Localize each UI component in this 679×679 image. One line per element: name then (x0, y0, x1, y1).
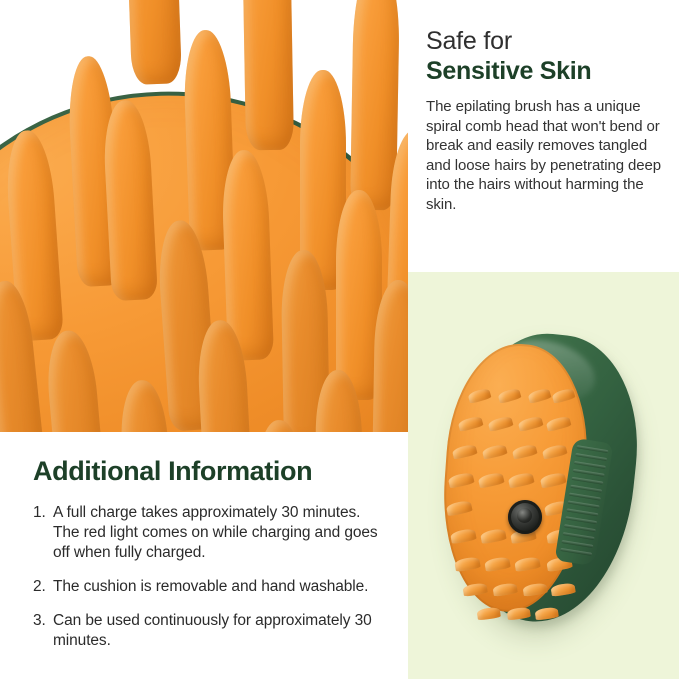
grip-rib (569, 493, 601, 501)
additional-information-list: 1.A full charge takes approximately 30 m… (33, 503, 388, 651)
grip-rib (571, 477, 603, 485)
sensitive-skin-body: The epilating brush has a unique spiral … (426, 97, 661, 215)
bristle-cone-body (372, 280, 408, 432)
bristle-cone-body (256, 419, 308, 432)
sensitive-skin-heading-line1: Safe for (426, 26, 661, 56)
bristle-cone (241, 0, 294, 150)
list-item-number: 3. (33, 611, 53, 651)
product-bristle-body (477, 607, 501, 621)
additional-information-title: Additional Information (33, 455, 388, 487)
infographic-page: Safe for Sensitive Skin The epilating br… (0, 0, 679, 679)
grip-rib (574, 461, 606, 469)
grip-rib (566, 508, 598, 516)
grip-rib (575, 453, 607, 461)
list-item-text: The cushion is removable and hand washab… (53, 577, 388, 597)
product-bristle (477, 607, 501, 621)
bristle-cone-body (241, 0, 294, 150)
bristle-cone-body (315, 370, 364, 432)
additional-information-item: 1.A full charge takes approximately 30 m… (33, 503, 388, 563)
grip-rib (570, 485, 602, 493)
bristle-cone (372, 280, 408, 432)
list-item-number: 2. (33, 577, 53, 597)
additional-information-panel: Additional Information 1.A full charge t… (0, 432, 408, 679)
macro-bristles-photo-panel (0, 0, 408, 432)
grip-rib (563, 532, 595, 540)
grip-rib (576, 445, 608, 453)
bristle-cone (315, 370, 364, 432)
grip-rib (573, 469, 605, 477)
grip-rib (561, 540, 593, 548)
list-item-text: Can be used continuously for approximate… (53, 611, 388, 651)
sensitive-skin-body-text: The epilating brush has a unique spiral … (426, 97, 661, 215)
product-photo-panel (408, 272, 679, 679)
grip-rib (568, 500, 600, 508)
list-item-text: A full charge takes approximately 30 min… (53, 503, 388, 563)
product-photo-stage (408, 272, 679, 679)
sensitive-skin-heading-line2: Sensitive Skin (426, 56, 661, 86)
grip-rib (560, 548, 592, 556)
list-item-number: 1. (33, 503, 53, 563)
bristle-cone (256, 419, 308, 432)
macro-photo-clip (0, 0, 408, 432)
sensitive-skin-copy-panel: Safe for Sensitive Skin The epilating br… (408, 0, 679, 272)
grip-rib (565, 516, 597, 524)
macro-photo-stage (0, 0, 408, 432)
additional-information-item: 3.Can be used continuously for approxima… (33, 611, 388, 651)
product-steam-nozzle[interactable] (508, 500, 542, 534)
grip-rib (564, 524, 596, 532)
additional-information-item: 2.The cushion is removable and hand wash… (33, 577, 388, 597)
bristle-cone-body (122, 0, 182, 85)
sensitive-skin-copy-inner: Safe for Sensitive Skin The epilating br… (408, 0, 679, 215)
bristle-cone (122, 0, 182, 85)
additional-information-inner: Additional Information 1.A full charge t… (0, 432, 408, 651)
